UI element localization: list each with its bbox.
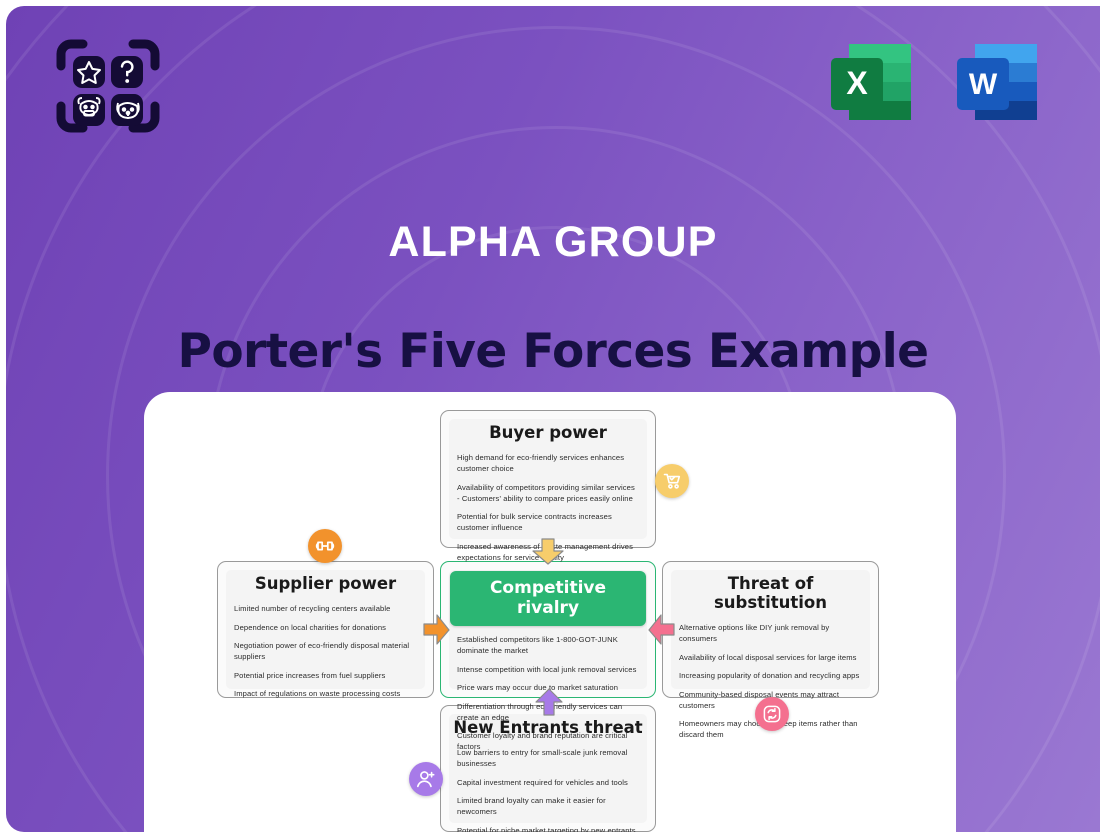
word-icon[interactable]: W [949, 34, 1045, 130]
screenshot-root: X W ALPHA GROUP Porter's Five Forces Exa… [0, 0, 1100, 832]
force-box-entrants[interactable]: New Entrants threat Low barriers to entr… [440, 705, 656, 832]
force-bullets-entrants: Low barriers to entry for small-scale ju… [441, 743, 655, 832]
bullet-item: Increasing popularity of donation and re… [679, 670, 862, 681]
shopping-cart-icon [662, 471, 682, 491]
force-box-substitution[interactable]: Threat of substitution Alternative optio… [662, 561, 879, 698]
bullet-item: Potential for niche market targeting by … [457, 825, 639, 832]
page-title: Porter's Five Forces Example [6, 324, 1100, 379]
recycle-refresh-icon-badge[interactable] [755, 697, 789, 731]
bullet-item: Impact of regulations on waste processin… [234, 688, 417, 699]
bullet-item: Negotiation power of eco-friendly dispos… [234, 640, 417, 662]
add-user-icon [415, 768, 437, 790]
arrow-right-supplier-to-rivalry [423, 614, 451, 646]
bullet-item: Potential for bulk service contracts inc… [457, 511, 639, 533]
svg-text:X: X [846, 65, 868, 101]
bullet-item: Alternative options like DIY junk remova… [679, 622, 862, 644]
bullet-item: Availability of local disposal services … [679, 652, 862, 663]
bullet-item: Low barriers to entry for small-scale ju… [457, 747, 639, 769]
force-title-rivalry: Competitive rivalry [450, 571, 646, 626]
force-title-supplier: Supplier power [218, 562, 433, 599]
svg-text:W: W [969, 68, 998, 101]
arrow-down-buyer-to-rivalry [531, 538, 565, 566]
bullet-item: Intense competition with local junk remo… [457, 664, 639, 675]
bullet-item: Availability of competitors providing si… [457, 482, 639, 504]
force-box-rivalry[interactable]: Competitive rivalry Established competit… [440, 561, 656, 698]
force-bullets-supplier: Limited number of recycling centers avai… [218, 599, 433, 717]
shopping-cart-icon-badge[interactable] [655, 464, 689, 498]
bullet-item: Dependence on local charities for donati… [234, 622, 417, 633]
dumbbell-icon [315, 536, 335, 556]
bullet-item: Potential price increases from fuel supp… [234, 670, 417, 681]
qr-pets-logo-icon[interactable] [53, 36, 163, 136]
bullet-item: Limited number of recycling centers avai… [234, 603, 417, 614]
recycle-refresh-icon [762, 704, 782, 724]
force-box-supplier[interactable]: Supplier power Limited number of recycli… [217, 561, 434, 698]
force-box-buyer[interactable]: Buyer power High demand for eco-friendly… [440, 410, 656, 548]
force-title-substitution: Threat of substitution [663, 562, 878, 618]
force-title-buyer: Buyer power [441, 411, 655, 448]
force-bullets-substitution: Alternative options like DIY junk remova… [663, 618, 878, 758]
add-user-icon-badge[interactable] [409, 762, 443, 796]
arrow-left-substitution-to-rivalry [647, 614, 675, 646]
arrow-up-entrants-to-rivalry [533, 688, 565, 716]
excel-icon[interactable]: X [823, 34, 919, 130]
dumbbell-icon-badge[interactable] [308, 529, 342, 563]
brand-title: ALPHA GROUP [6, 218, 1100, 267]
office-icons-group: X W [823, 34, 1045, 130]
bullet-item: Capital investment required for vehicles… [457, 777, 639, 788]
bullet-item: Limited brand loyalty can make it easier… [457, 795, 639, 817]
bullet-item: Established competitors like 1-800-GOT-J… [457, 634, 639, 656]
bullet-item: High demand for eco-friendly services en… [457, 452, 639, 474]
